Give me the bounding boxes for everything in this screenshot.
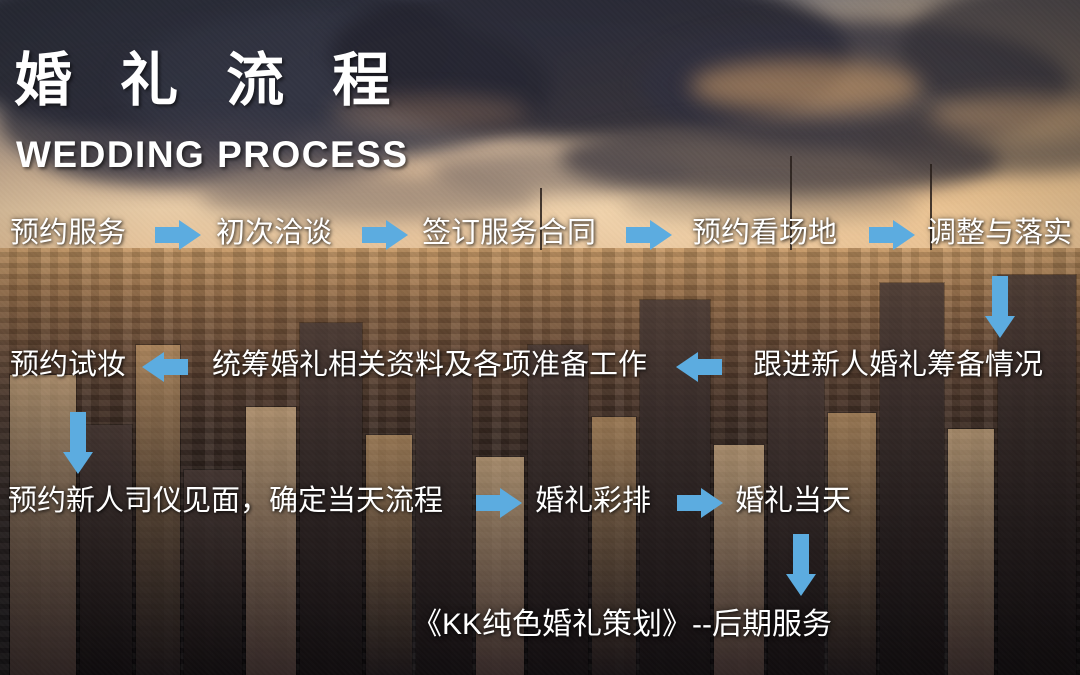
arrow-left-icon xyxy=(676,352,722,382)
flow-node-row2-3[interactable]: 跟进新人婚礼筹备情况 xyxy=(753,351,1043,380)
footer-label: 《KK纯色婚礼策划》--后期服务 xyxy=(412,610,832,640)
arrow-right-icon xyxy=(155,220,201,250)
arrow-down-icon xyxy=(786,534,816,596)
flow-node-row1-4[interactable]: 预约看场地 xyxy=(692,219,837,248)
arrow-down-icon xyxy=(63,412,93,474)
arrow-right-icon xyxy=(476,488,522,518)
arrow-left-icon xyxy=(142,352,188,382)
flow-node-row3-2[interactable]: 婚礼彩排 xyxy=(535,487,651,516)
flow-node-row1-3[interactable]: 签订服务合同 xyxy=(422,219,596,248)
flow-node-row1-1[interactable]: 预约服务 xyxy=(10,219,126,248)
arrow-right-icon xyxy=(626,220,672,250)
arrow-right-icon xyxy=(869,220,915,250)
flow-node-row1-2[interactable]: 初次洽谈 xyxy=(216,219,332,248)
flow-node-row3-1[interactable]: 预约新人司仪见面，确定当天流程 xyxy=(8,487,443,516)
page-title-chinese: 婚 礼 流 程 xyxy=(14,52,406,110)
arrow-down-icon xyxy=(985,276,1015,338)
wedding-process-slide: 婚 礼 流 程 WEDDING PROCESS 预约服务 初次洽谈 签订服务合同… xyxy=(0,0,1080,675)
flow-node-row2-2[interactable]: 统筹婚礼相关资料及各项准备工作 xyxy=(212,351,647,380)
flow-node-row3-3[interactable]: 婚礼当天 xyxy=(735,487,851,516)
page-title-english: WEDDING PROCESS xyxy=(16,136,409,173)
flow-node-row2-1[interactable]: 预约试妆 xyxy=(10,351,126,380)
flow-node-row1-5[interactable]: 调整与落实 xyxy=(927,219,1072,248)
arrow-right-icon xyxy=(362,220,408,250)
arrow-right-icon xyxy=(677,488,723,518)
